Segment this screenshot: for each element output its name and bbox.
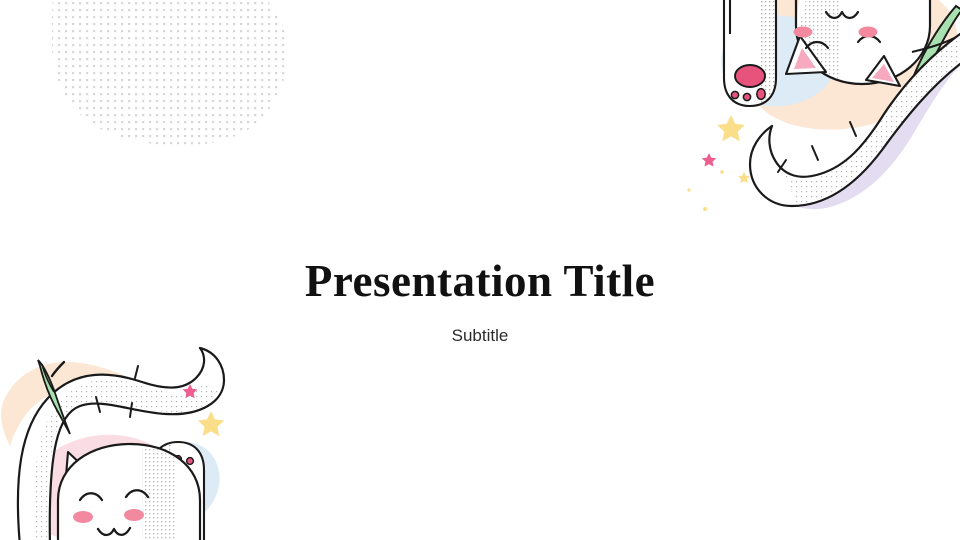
leaf-decoration: [906, 6, 960, 104]
cat-tail-bottom-left: [18, 348, 230, 540]
page-subtitle[interactable]: Subtitle: [0, 325, 960, 347]
star-pink-small: [702, 153, 716, 167]
cat-paw-raised: [152, 430, 204, 540]
cat-paw-hanging: [724, 0, 790, 110]
tail-shadow: [776, 48, 960, 209]
star-pink-small: [182, 384, 197, 398]
star-decorations-top-right: [687, 115, 749, 211]
page-title[interactable]: Presentation Title: [0, 255, 960, 307]
blue-blob: [135, 441, 219, 524]
blue-blob: [721, 16, 836, 107]
star-yellow-small: [738, 172, 750, 183]
cat-tail-top-right: [750, 20, 960, 210]
presentation-slide: Presentation Title Subtitle: [0, 0, 960, 540]
leaf-decoration-tail: [38, 360, 70, 434]
cat-head-bottom-left: [58, 430, 200, 540]
leaf-decoration-paw: [152, 466, 186, 540]
cat-waving-illustration: [1, 348, 230, 540]
pink-blob: [21, 435, 187, 540]
dot-yellow-2: [687, 188, 690, 191]
cat-upside-down-illustration: [687, 0, 960, 211]
peach-tail-shadow: [1, 362, 190, 446]
cat-head-upside-down: [786, 0, 930, 100]
halftone-dot-blob-decoration: [52, 0, 288, 146]
title-text-block: Presentation Title Subtitle: [0, 255, 960, 347]
star-yellow-large: [198, 411, 224, 436]
peach-blob: [742, 0, 957, 130]
star-decorations-bottom-left: [182, 384, 224, 436]
star-yellow-large: [717, 115, 745, 141]
dot-yellow-1: [720, 170, 724, 174]
dot-yellow-3: [703, 207, 707, 211]
